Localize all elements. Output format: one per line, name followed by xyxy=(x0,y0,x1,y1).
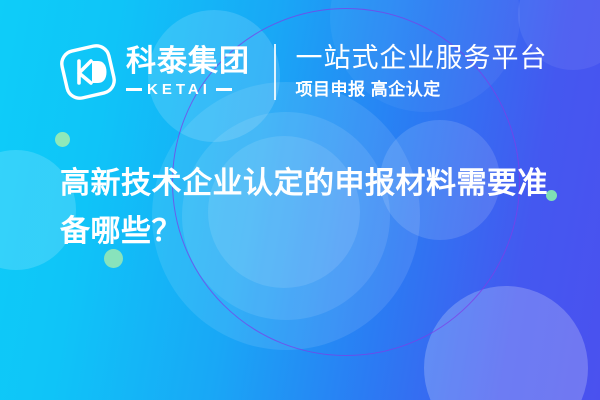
background-circle-decor xyxy=(424,286,588,400)
ketai-kd-monogram-icon xyxy=(58,42,118,102)
tagline-sub: 项目申报 高企认定 xyxy=(296,79,548,101)
header-divider xyxy=(274,44,276,100)
rule-left-decor xyxy=(126,88,142,91)
brand-name-en: KETAI xyxy=(147,81,211,98)
accent-dot-decor xyxy=(55,132,70,147)
promo-banner: 科泰集团 KETAI 一站式企业服务平台 项目申报 高企认定 高新技术企业认定的… xyxy=(0,0,600,400)
brand-name-en-row: KETAI xyxy=(126,81,250,98)
tagline-main: 一站式企业服务平台 xyxy=(296,43,548,74)
rule-right-decor xyxy=(216,88,232,91)
brand-name-cn: 科泰集团 xyxy=(126,46,250,78)
banner-headline: 高新技术企业认定的申报材料需要准备哪些？ xyxy=(60,160,560,256)
banner-header: 科泰集团 KETAI 一站式企业服务平台 项目申报 高企认定 xyxy=(58,42,548,102)
brand-logo: 科泰集团 KETAI xyxy=(58,42,250,102)
brand-wordmark: 科泰集团 KETAI xyxy=(126,46,250,98)
tagline-block: 一站式企业服务平台 项目申报 高企认定 xyxy=(296,43,548,101)
